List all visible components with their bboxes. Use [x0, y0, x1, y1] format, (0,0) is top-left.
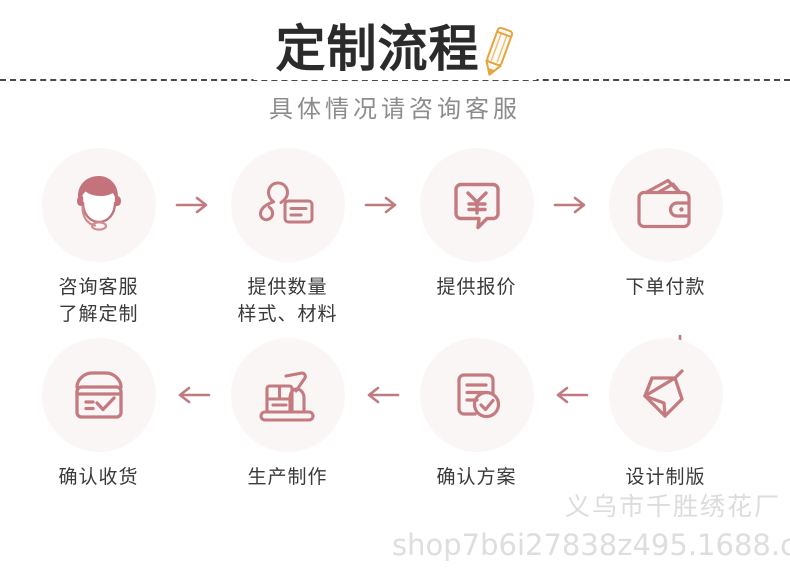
step-icon-badge: [42, 338, 156, 452]
arrow-right-icon: [360, 148, 404, 262]
package-check-icon: [62, 358, 136, 432]
flow-step-production[interactable]: 生产制作: [215, 338, 360, 491]
price-quote-bubble-icon: [440, 168, 514, 242]
flow-step-consult[interactable]: 咨询客服 了解定制: [26, 148, 171, 328]
pen-nib-icon: [630, 359, 702, 431]
page-root: 定制流程 具体情况请咨询客服: [0, 0, 790, 576]
arrow-left-icon: [360, 338, 404, 452]
step-label: 设计制版: [625, 464, 705, 491]
step-icon-badge: [420, 148, 534, 262]
wallet-payment-icon: [628, 170, 704, 240]
arrow-left-icon: [549, 338, 593, 452]
step-icon-badge: [231, 338, 345, 452]
step-icon-badge: [42, 148, 156, 262]
arrow-left-icon: [171, 338, 215, 452]
person-document-icon: [249, 166, 327, 244]
step-label: 确认方案: [436, 464, 516, 491]
flow-step-confirm-plan[interactable]: 确认方案: [404, 338, 549, 491]
step-icon-badge: [609, 338, 723, 452]
flow-row-1: 咨询客服 了解定制: [0, 148, 790, 338]
flow-step-quote[interactable]: 提供报价: [404, 148, 549, 301]
flow-step-design[interactable]: 设计制版: [593, 338, 738, 491]
page-header: 定制流程 具体情况请咨询客服: [0, 0, 790, 140]
arrow-right-icon: [171, 148, 215, 262]
step-label: 确认收货: [58, 464, 138, 491]
step-label: 提供数量 样式、材料: [237, 274, 337, 328]
process-flow: 咨询客服 了解定制: [0, 148, 790, 534]
production-machine-icon: [250, 359, 326, 431]
flow-step-payment[interactable]: 下单付款: [593, 148, 738, 301]
flow-step-provide-details[interactable]: 提供数量 样式、材料: [215, 148, 360, 328]
flow-step-confirm-receipt[interactable]: 确认收货: [26, 338, 171, 491]
step-icon-badge: [609, 148, 723, 262]
title-block: 定制流程: [254, 18, 537, 80]
flow-row-2: 确认收货: [0, 338, 790, 534]
page-subtitle: 具体情况请咨询客服: [0, 92, 790, 126]
step-label: 生产制作: [247, 464, 327, 491]
document-approved-icon: [441, 359, 513, 431]
step-label: 咨询客服 了解定制: [58, 274, 138, 328]
arrow-right-icon: [549, 148, 593, 262]
step-icon-badge: [231, 148, 345, 262]
step-label: 提供报价: [436, 274, 516, 301]
step-label: 下单付款: [625, 274, 705, 301]
step-icon-badge: [420, 338, 534, 452]
customer-service-agent-icon: [60, 166, 138, 244]
page-title: 定制流程: [276, 18, 480, 80]
pencil-icon: [481, 24, 515, 78]
